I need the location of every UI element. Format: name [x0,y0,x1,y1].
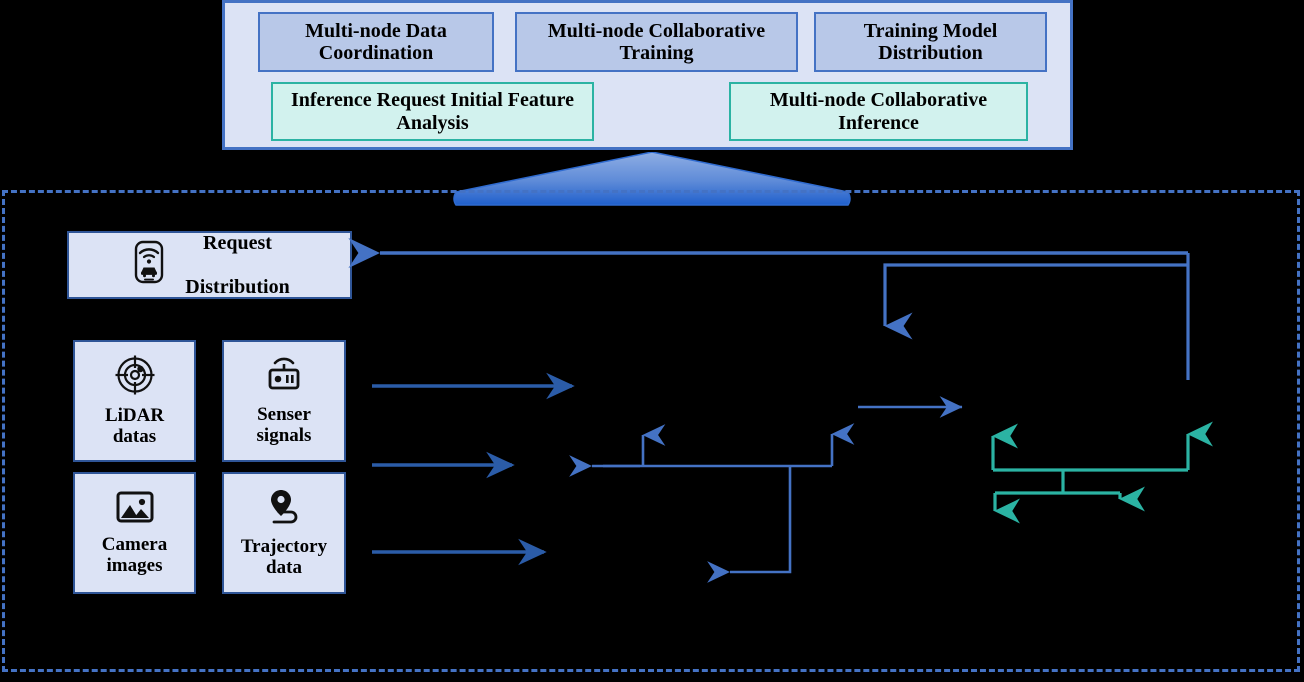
data-box-label: LiDAR [105,406,164,427]
data-box-senser-signals[interactable]: Senser signals [222,340,346,462]
request-distribution-label: Request Distribution [185,232,289,298]
panel-box-label: Multi-node Collaborative Training [517,20,796,65]
sensor-device-icon [262,355,306,401]
data-box-label: data [266,558,302,579]
panel-box-inference-request-initial-feature-analysis[interactable]: Inference Request Initial Feature Analys… [271,82,594,141]
map-pin-route-icon [264,487,304,533]
panel-box-training-model-distribution[interactable]: Training Model Distribution [814,12,1047,72]
panel-box-label: Inference Request Initial Feature Analys… [273,89,592,134]
diagram-canvas: Multi-node Data Coordination Multi-node … [0,0,1304,682]
panel-box-label: Training Model Distribution [816,20,1045,65]
image-picture-icon [115,489,155,531]
data-box-label: datas [113,427,156,448]
panel-box-multi-node-collaborative-inference[interactable]: Multi-node Collaborative Inference [729,82,1028,141]
data-box-label: Senser [257,405,311,426]
data-box-label: signals [257,426,312,447]
vehicle-signal-icon [129,237,169,290]
data-box-label: Camera [102,535,167,556]
panel-box-multi-node-collaborative-training[interactable]: Multi-node Collaborative Training [515,12,798,72]
cloud-platform-panel: Multi-node Data Coordination Multi-node … [222,0,1073,150]
panel-box-multi-node-data-coordination[interactable]: Multi-node Data Coordination [258,12,494,72]
data-box-label: Trajectory [241,537,327,558]
panel-box-label: Multi-node Data Coordination [260,20,492,65]
radar-target-icon [114,354,156,402]
data-box-lidar-datas[interactable]: LiDAR datas [73,340,196,462]
data-box-label: images [107,556,163,577]
panel-box-label: Multi-node Collaborative Inference [731,89,1026,134]
data-box-trajectory-data[interactable]: Trajectory data [222,472,346,594]
data-box-camera-images[interactable]: Camera images [73,472,196,594]
request-distribution-box[interactable]: Request Distribution [67,231,352,299]
